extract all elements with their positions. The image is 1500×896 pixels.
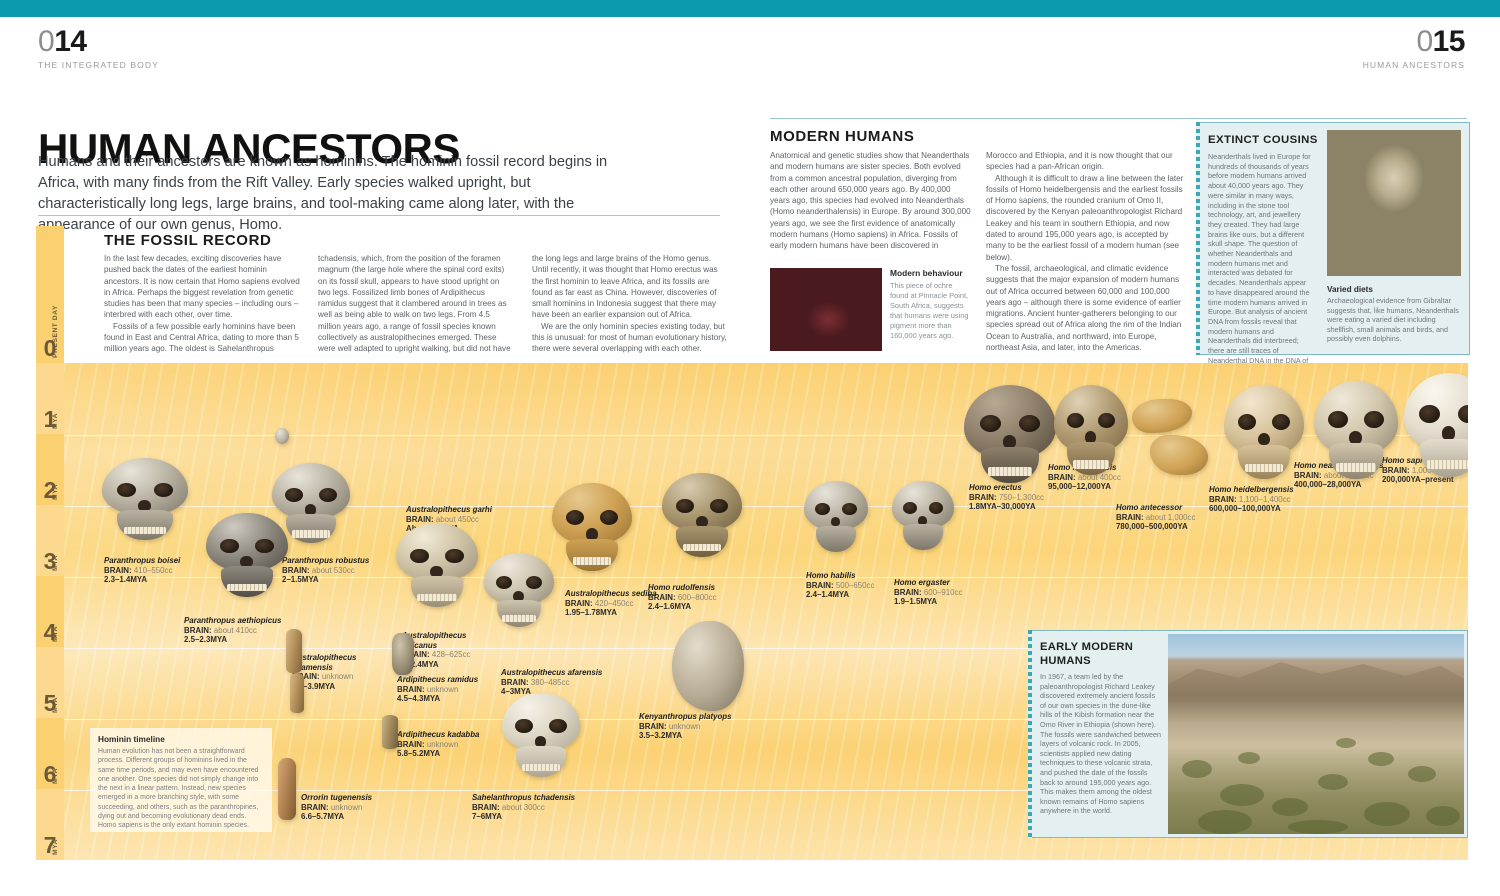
species-label: Homo ergasterBRAIN: 600–910cc1.9–1.5MYA (894, 578, 998, 607)
fossil-skull-image (662, 473, 742, 559)
page-number-right: 015 (1363, 27, 1465, 57)
omo-kibish-landscape-photo (1168, 634, 1464, 834)
species-brain: BRAIN: about 530cc (282, 566, 386, 576)
species-brain: BRAIN: unknown (292, 672, 392, 682)
species-name: Ardipithecus kadabba (397, 730, 501, 740)
species-brain: BRAIN: unknown (397, 740, 501, 750)
species-brain: BRAIN: about 1,000cc (1116, 513, 1226, 523)
species-label: Paranthropus boiseiBRAIN: 410–550cc2.3–1… (104, 556, 208, 585)
fossil-skull-image (396, 523, 478, 609)
species-name: Homo heidelbergensis (1209, 485, 1305, 495)
species-range: 600,000–100,000YA (1209, 504, 1305, 514)
species-brain: BRAIN: about 410cc (184, 626, 288, 636)
axis-tick-value: 0 (37, 337, 63, 360)
axis-tick-value: 1 (37, 408, 63, 431)
axis-tick-unit: MYA (52, 626, 59, 642)
axis-tick-value: 6 (37, 763, 63, 786)
folio-zero-left: 0 (38, 25, 54, 58)
modern-humans-para-4: The fossil, archaeological, and climatic… (986, 263, 1188, 353)
axis-tick-unit: MYA (52, 768, 59, 784)
species-label: Australopithecus africanusBRAIN: 428–625… (402, 631, 502, 669)
species-brain: BRAIN: 750–1,300cc (969, 493, 1079, 503)
fossil-skull-image (1314, 381, 1398, 481)
landscape-shrub (1364, 802, 1410, 826)
fossil-para-3: We are the only hominin species existing… (532, 321, 728, 355)
landscape-shrub (1318, 774, 1348, 790)
axis-tick-1: 1MYA (36, 363, 64, 434)
species-brain: BRAIN: 600–800cc (648, 593, 752, 603)
axis-tick-unit: MYA (52, 484, 59, 500)
axis-tick-unit: MYA (52, 413, 59, 429)
modern-humans-para-1: Anatomical and genetic studies show that… (770, 150, 972, 252)
fossil-fragment-image (1150, 435, 1208, 475)
landscape-shrub (1198, 810, 1252, 834)
fossil-skull-image (272, 463, 350, 545)
fossil-bone-image (382, 715, 398, 749)
species-range: 780,000–500,000YA (1116, 522, 1226, 532)
fossil-fragment-image (1132, 399, 1192, 433)
fossil-fragment-image (275, 428, 289, 444)
fossil-skull-image (102, 458, 188, 542)
landscape-shrub (1182, 760, 1212, 778)
species-label: Ardipithecus kadabbaBRAIN: unknown5.8–5.… (397, 730, 501, 759)
axis-tick-unit: MYA (52, 697, 59, 713)
species-label: Sahelanthropus tchadensisBRAIN: about 30… (472, 793, 576, 822)
varied-diets-caption-title: Varied diets (1327, 285, 1373, 294)
species-brain: BRAIN: unknown (301, 803, 405, 813)
landscape-ridge (1168, 652, 1464, 698)
timeline-axis: 0PRESENT DAY1MYA2MYA3MYA4MYA5MYA6MYA7MYA (36, 226, 64, 860)
fossil-para-1: In the last few decades, exciting discov… (104, 253, 300, 321)
species-range: 6.6–5.7MYA (301, 812, 405, 822)
species-name: Paranthropus aethiopicus (184, 616, 288, 626)
species-range: 2.3–1.4MYA (104, 575, 208, 585)
species-brain: BRAIN: 410–550cc (104, 566, 208, 576)
species-label: Homo rudolfensisBRAIN: 600–800cc2.4–1.6M… (648, 583, 752, 612)
axis-tick-unit: PRESENT DAY (52, 305, 59, 358)
axis-tick-unit: MYA (52, 839, 59, 855)
top-accent-bar (0, 0, 1500, 17)
modern-behaviour-caption: Modern behaviour This piece of ochre fou… (890, 268, 972, 341)
hominin-timeline-caption-body: Human evolution has not been a straightf… (98, 747, 264, 831)
species-range: 4.5–4.3MYA (397, 694, 501, 704)
varied-diets-caption-body: Archaeological evidence from Gibraltar s… (1327, 296, 1463, 344)
axis-tick-7: 7MYA (36, 789, 64, 860)
early-modern-humans-dash-rule (1028, 630, 1032, 838)
neanderthal-skull-photo (1327, 130, 1461, 276)
hominin-timeline-caption-title: Hominin timeline (98, 734, 264, 744)
folio-right: 015 HUMAN ANCESTORS (1363, 27, 1465, 70)
ochre-photo (770, 268, 882, 351)
species-name: Australopithecus afarensis (501, 668, 605, 678)
species-range: 7–6MYA (472, 812, 576, 822)
fossil-skull-image (1224, 385, 1304, 481)
species-range: 5.8–5.2MYA (397, 749, 501, 759)
folio-zero-right: 0 (1416, 25, 1432, 58)
landscape-shrub (1238, 752, 1260, 764)
landscape-shrub (1220, 784, 1264, 806)
fossil-bone-image (286, 629, 302, 673)
species-brain: BRAIN: unknown (397, 685, 501, 695)
species-name: Ardipithecus ramidus (397, 675, 501, 685)
modern-humans-para-2: Morocco and Ethiopia, and it is now thou… (986, 150, 1188, 173)
standfirst-text: Humans and their ancestors are known as … (38, 152, 638, 236)
fossil-skull-image (1404, 373, 1468, 479)
fossil-skull-image (804, 481, 868, 553)
hominin-timeline-caption: Hominin timeline Human evolution has not… (90, 728, 272, 832)
species-brain: BRAIN: 380–485cc (501, 678, 605, 688)
species-range: 95,000–12,000YA (1048, 482, 1148, 492)
species-brain: BRAIN: unknown (639, 722, 743, 732)
modern-humans-para-3: Although it is difficult to draw a line … (986, 173, 1188, 263)
landscape-shrub (1288, 820, 1348, 834)
fossil-bone-image (290, 673, 304, 713)
species-label: Paranthropus aethiopicusBRAIN: about 410… (184, 616, 288, 645)
folio-digits-right: 15 (1433, 25, 1465, 58)
folio-left: 014 THE INTEGRATED BODY (38, 27, 159, 70)
species-range: 1.9–1.5MYA (894, 597, 998, 607)
axis-tick-value: 4 (37, 621, 63, 644)
axis-tick-0: 0PRESENT DAY (36, 226, 64, 363)
fossil-skull-image (502, 693, 580, 779)
species-label: Kenyanthropus platyopsBRAIN: unknown3.5–… (639, 712, 743, 741)
species-range: 2–1.5MYA (282, 575, 386, 585)
species-label: Orrorin tugenensisBRAIN: unknown6.6–5.7M… (301, 793, 405, 822)
landscape-shrub (1408, 766, 1436, 782)
species-range: 2.4–1.6MYA (648, 602, 752, 612)
fossil-bone-image (278, 758, 296, 820)
species-name: Paranthropus robustus (282, 556, 386, 566)
fossil-skull-image (964, 385, 1056, 485)
axis-tick-5: 5MYA (36, 647, 64, 718)
axis-tick-value: 3 (37, 550, 63, 573)
axis-tick-3: 3MYA (36, 505, 64, 576)
species-range: 400,000–28,000YA (1294, 480, 1386, 490)
species-range: 2.5–2.3MYA (184, 635, 288, 645)
species-range: 4.5–3.9MYA (292, 682, 392, 692)
divider-left (38, 215, 720, 216)
landscape-shrub (1336, 738, 1356, 748)
caption-title: Modern behaviour (890, 268, 972, 278)
species-brain: BRAIN: about 300cc (472, 803, 576, 813)
species-name: Australopithecus africanus (402, 631, 502, 650)
species-label: Homo heidelbergensisBRAIN: 1,100–1,400cc… (1209, 485, 1305, 514)
section-heading-fossil-record: THE FOSSIL RECORD (104, 232, 271, 249)
species-name: Sahelanthropus tchadensis (472, 793, 576, 803)
axis-tick-value: 7 (37, 834, 63, 857)
axis-tick-4: 4MYA (36, 576, 64, 647)
divider-right (770, 118, 1467, 119)
landscape-shrub (1426, 806, 1460, 826)
species-name: Homo rudolfensis (648, 583, 752, 593)
species-label: Paranthropus robustusBRAIN: about 530cc2… (282, 556, 386, 585)
section-heading-modern-humans: MODERN HUMANS (770, 128, 914, 145)
axis-tick-unit: MYA (52, 555, 59, 571)
species-brain: BRAIN: 1,100–1,400cc (1209, 495, 1305, 505)
species-name: Paranthropus boisei (104, 556, 208, 566)
species-label: Australopithecus anamensisBRAIN: unknown… (292, 653, 392, 691)
fossil-record-body: In the last few decades, exciting discov… (104, 253, 728, 355)
species-name: Kenyanthropus platyops (639, 712, 743, 722)
fossil-fragment-image (672, 621, 744, 711)
early-modern-humans-heading: EARLY MODERN HUMANS (1040, 641, 1160, 668)
page-number-left: 014 (38, 27, 159, 57)
fossil-fragment-image (392, 633, 414, 675)
extinct-cousins-body: Neanderthals lived in Europe for hundred… (1208, 152, 1314, 375)
fossil-skull-image (552, 483, 632, 573)
extinct-cousins-dash-rule (1196, 122, 1200, 355)
species-name: Orrorin tugenensis (301, 793, 405, 803)
species-name: Australopithecus anamensis (292, 653, 392, 672)
modern-humans-column-2: Morocco and Ethiopia, and it is now thou… (986, 150, 1188, 353)
axis-tick-2: 2MYA (36, 434, 64, 505)
modern-humans-column-1: Anatomical and genetic studies show that… (770, 150, 972, 252)
species-brain: BRAIN: 600–910cc (894, 588, 998, 598)
early-modern-humans-body: In 1967, a team led by the paleoanthropo… (1040, 672, 1162, 816)
species-range: 3–2.4MYA (402, 660, 502, 670)
species-range: 3.5–3.2MYA (639, 731, 743, 741)
fossil-skull-image (1054, 385, 1128, 477)
species-brain: BRAIN: 428–625cc (402, 650, 502, 660)
species-name: Homo ergaster (894, 578, 998, 588)
axis-tick-6: 6MYA (36, 718, 64, 789)
running-head-left: THE INTEGRATED BODY (38, 60, 159, 70)
caption-body: This piece of ochre found at Pinnacle Po… (890, 281, 972, 340)
species-label: Ardipithecus ramidusBRAIN: unknown4.5–4.… (397, 675, 501, 704)
species-name: Australopithecus garhi (406, 505, 510, 515)
fossil-skull-image (484, 553, 554, 629)
landscape-shrub (1368, 752, 1394, 766)
running-head-right: HUMAN ANCESTORS (1363, 60, 1465, 70)
folio-digits-left: 14 (54, 25, 86, 58)
species-range: 1.8MYA–30,000YA (969, 502, 1079, 512)
fossil-skull-image (892, 481, 954, 551)
axis-tick-value: 2 (37, 479, 63, 502)
axis-tick-value: 5 (37, 692, 63, 715)
landscape-shrub (1272, 798, 1308, 816)
